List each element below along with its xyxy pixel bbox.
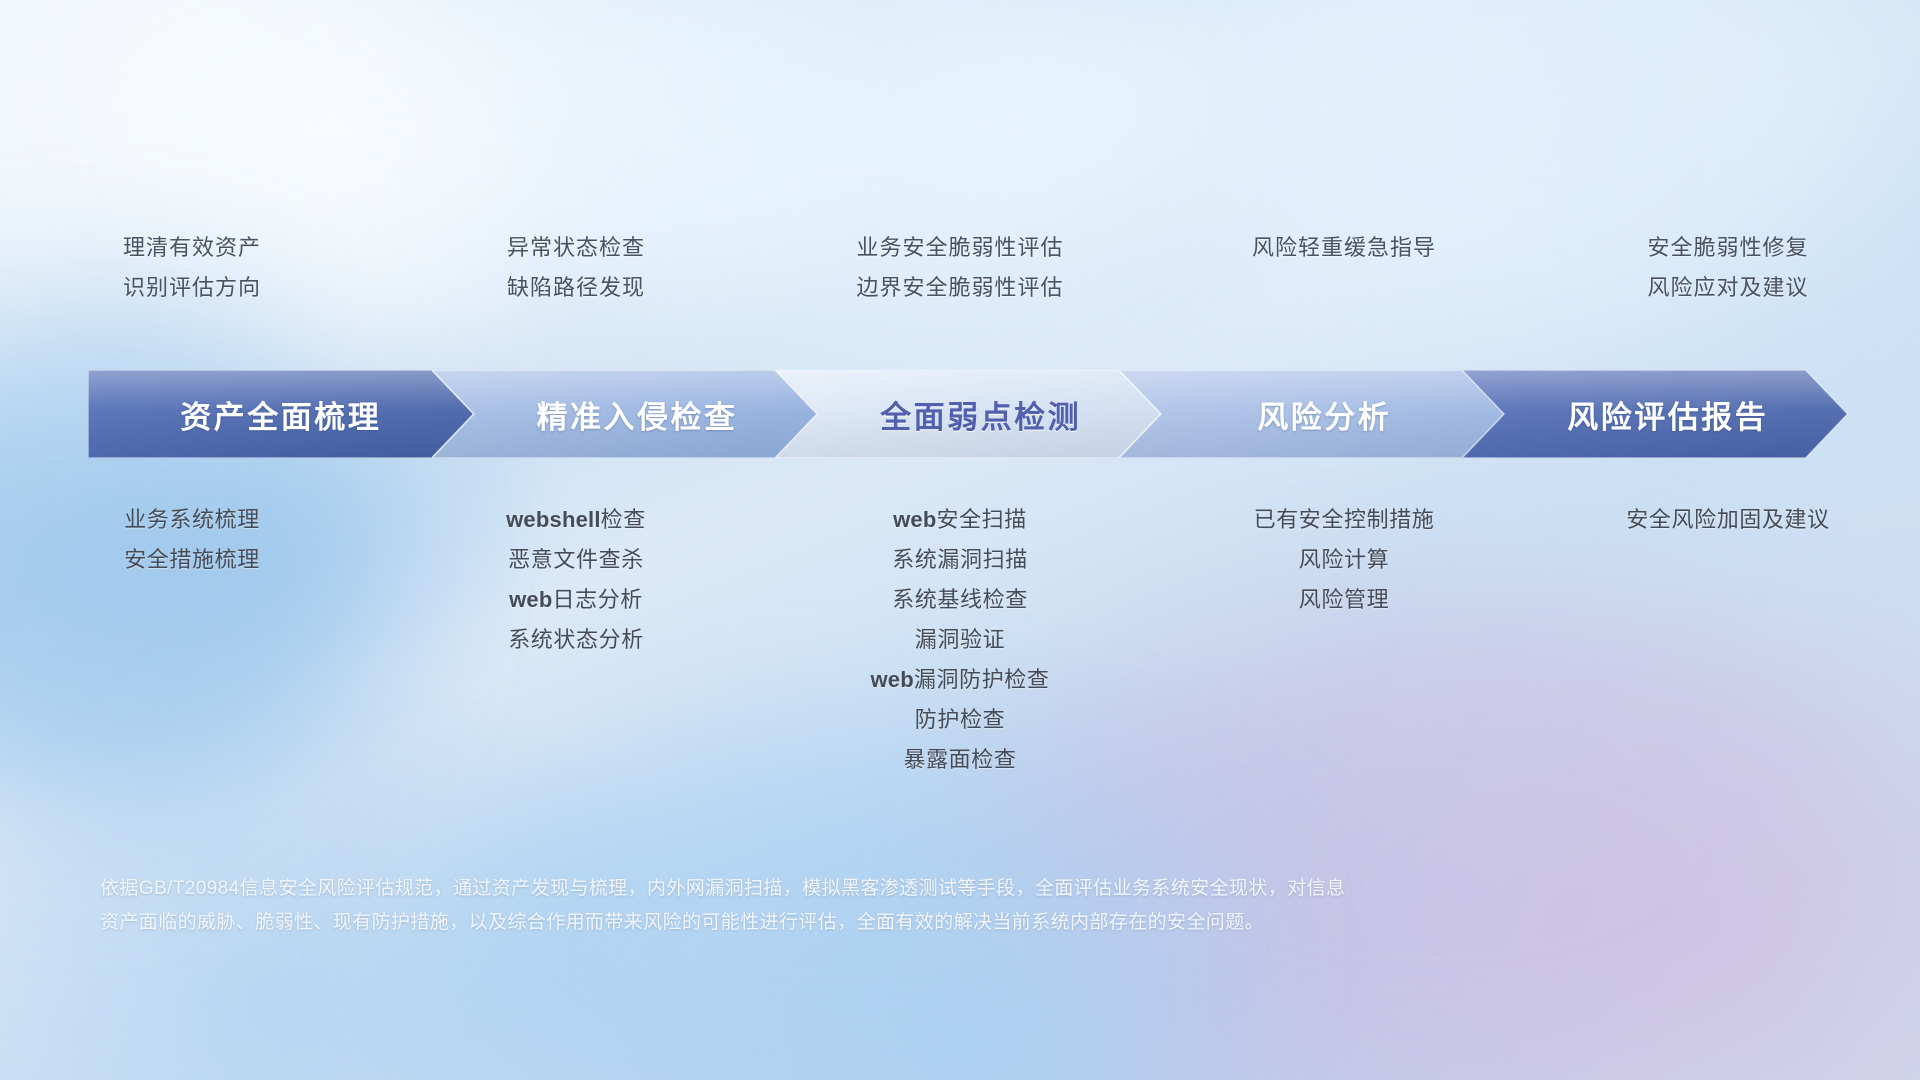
process-step-assessment-report[interactable]: 风险评估报告 bbox=[1462, 370, 1848, 458]
stage-detail-lists-row: 业务系统梳理安全措施梳理webshell检查恶意文件查杀web日志分析系统状态分… bbox=[0, 500, 1920, 780]
stage-detail-item-text: 暴露面检查 bbox=[903, 747, 1016, 772]
stage-detail-item-latin: web bbox=[509, 587, 552, 612]
stage-detail-item-text: 检查 bbox=[601, 507, 646, 532]
footer-description: 依据GB/T20984信息安全风险评估规范，通过资产发现与梳理，内外网漏洞扫描，… bbox=[100, 872, 1620, 940]
stage-top-note: 安全脆弱性修复 bbox=[1536, 228, 1920, 268]
stage-detail-item: 安全措施梳理 bbox=[0, 540, 384, 580]
stage-detail-list-assessment-report: 安全风险加固及建议 bbox=[1536, 500, 1920, 780]
process-step-asset-inventory[interactable]: 资产全面梳理 bbox=[88, 370, 474, 458]
stage-detail-item-text: 业务系统梳理 bbox=[124, 507, 260, 532]
process-step-intrusion-check[interactable]: 精准入侵检查 bbox=[432, 370, 818, 458]
stage-detail-item: web安全扫描 bbox=[768, 500, 1152, 540]
stage-detail-item-text: 系统状态分析 bbox=[508, 627, 644, 652]
stage-detail-item-text: 系统漏洞扫描 bbox=[892, 547, 1028, 572]
stage-detail-item: 暴露面检查 bbox=[768, 740, 1152, 780]
stage-detail-item: 系统基线检查 bbox=[768, 580, 1152, 620]
stage-detail-item-text: 风险管理 bbox=[1299, 587, 1389, 612]
stage-top-note: 识别评估方向 bbox=[0, 268, 384, 308]
stage-detail-item-text: 安全风险加固及建议 bbox=[1626, 507, 1829, 532]
stage-top-notes-assessment-report: 安全脆弱性修复风险应对及建议 bbox=[1536, 228, 1920, 308]
stage-top-notes-weakness-detection: 业务安全脆弱性评估边界安全脆弱性评估 bbox=[768, 228, 1152, 308]
stage-detail-item-latin: web bbox=[893, 507, 936, 532]
stage-detail-item-text: 恶意文件查杀 bbox=[508, 547, 644, 572]
stage-top-note: 风险轻重缓急指导 bbox=[1152, 228, 1536, 268]
stage-detail-list-intrusion-check: webshell检查恶意文件查杀web日志分析系统状态分析 bbox=[384, 500, 768, 780]
process-step-label: 资产全面梳理 bbox=[180, 392, 381, 437]
stage-top-note: 缺陷路径发现 bbox=[384, 268, 768, 308]
stage-detail-item-text: 已有安全控制措施 bbox=[1254, 507, 1435, 532]
stage-top-note: 风险应对及建议 bbox=[1536, 268, 1920, 308]
stage-detail-list-weakness-detection: web安全扫描系统漏洞扫描系统基线检查漏洞验证web漏洞防护检查防护检查暴露面检… bbox=[768, 500, 1152, 780]
stage-detail-item: webshell检查 bbox=[384, 500, 768, 540]
process-step-label: 精准入侵检查 bbox=[536, 392, 737, 437]
stage-detail-item: 安全风险加固及建议 bbox=[1536, 500, 1920, 540]
footer-line-1: 依据GB/T20984信息安全风险评估规范，通过资产发现与梳理，内外网漏洞扫描，… bbox=[100, 872, 1620, 906]
stage-top-notes-asset-inventory: 理清有效资产识别评估方向 bbox=[0, 228, 384, 308]
stage-detail-item-text: 日志分析 bbox=[552, 587, 642, 612]
stage-detail-item-text: 系统基线检查 bbox=[892, 587, 1028, 612]
stage-detail-item: web漏洞防护检查 bbox=[768, 660, 1152, 700]
stage-top-note: 理清有效资产 bbox=[0, 228, 384, 268]
stage-detail-item-text: 漏洞防护检查 bbox=[914, 667, 1050, 692]
process-chevron-band: 资产全面梳理精准入侵检查全面弱点检测风险分析风险评估报告 bbox=[88, 370, 1848, 458]
stage-detail-item: 已有安全控制措施 bbox=[1152, 500, 1536, 540]
stage-detail-item: 恶意文件查杀 bbox=[384, 540, 768, 580]
stage-detail-item: 系统漏洞扫描 bbox=[768, 540, 1152, 580]
stage-detail-item-latin: webshell bbox=[506, 507, 601, 532]
stage-detail-list-risk-analysis: 已有安全控制措施风险计算风险管理 bbox=[1152, 500, 1536, 780]
process-step-weakness-detection[interactable]: 全面弱点检测 bbox=[775, 370, 1161, 458]
stage-detail-item-text: 漏洞验证 bbox=[915, 627, 1005, 652]
process-step-label: 风险分析 bbox=[1257, 392, 1391, 437]
stage-detail-item: 漏洞验证 bbox=[768, 620, 1152, 660]
stage-top-notes-risk-analysis: 风险轻重缓急指导 bbox=[1152, 228, 1536, 308]
process-step-risk-analysis[interactable]: 风险分析 bbox=[1119, 370, 1505, 458]
stage-detail-item: 系统状态分析 bbox=[384, 620, 768, 660]
stage-top-notes-intrusion-check: 异常状态检查缺陷路径发现 bbox=[384, 228, 768, 308]
stage-detail-item: 风险计算 bbox=[1152, 540, 1536, 580]
process-step-label: 全面弱点检测 bbox=[880, 392, 1081, 437]
stage-detail-item-text: 防护检查 bbox=[915, 707, 1005, 732]
footer-line-2: 资产面临的威胁、脆弱性、现有防护措施，以及综合作用而带来风险的可能性进行评估，全… bbox=[100, 906, 1620, 940]
stage-detail-item: web日志分析 bbox=[384, 580, 768, 620]
stage-detail-list-asset-inventory: 业务系统梳理安全措施梳理 bbox=[0, 500, 384, 780]
stage-detail-item-text: 安全措施梳理 bbox=[124, 547, 260, 572]
stage-detail-item-latin: web bbox=[871, 667, 914, 692]
stage-detail-item: 防护检查 bbox=[768, 700, 1152, 740]
stage-top-note: 业务安全脆弱性评估 bbox=[768, 228, 1152, 268]
stage-top-note: 边界安全脆弱性评估 bbox=[768, 268, 1152, 308]
stage-top-notes-row: 理清有效资产识别评估方向异常状态检查缺陷路径发现业务安全脆弱性评估边界安全脆弱性… bbox=[0, 228, 1920, 308]
stage-detail-item: 业务系统梳理 bbox=[0, 500, 384, 540]
stage-detail-item-text: 风险计算 bbox=[1299, 547, 1389, 572]
slide-canvas: 理清有效资产识别评估方向异常状态检查缺陷路径发现业务安全脆弱性评估边界安全脆弱性… bbox=[0, 0, 1920, 1080]
process-step-label: 风险评估报告 bbox=[1567, 392, 1768, 437]
stage-top-note: 异常状态检查 bbox=[384, 228, 768, 268]
stage-detail-item-text: 安全扫描 bbox=[936, 507, 1026, 532]
stage-detail-item: 风险管理 bbox=[1152, 580, 1536, 620]
